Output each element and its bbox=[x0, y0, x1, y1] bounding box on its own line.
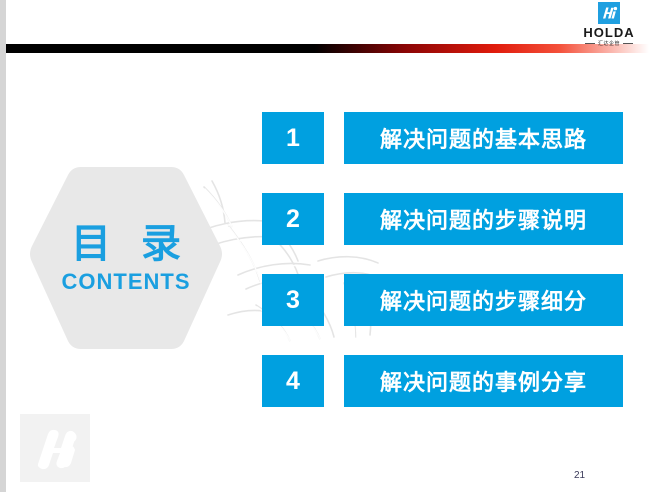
header-gradient-bar bbox=[6, 44, 649, 53]
logo-wordmark: HOLDA bbox=[569, 26, 649, 39]
contents-title-cn: 目 录 bbox=[63, 221, 189, 267]
left-edge-strip bbox=[0, 0, 6, 492]
toc-row-gap bbox=[324, 112, 344, 164]
holda-monogram-icon bbox=[598, 2, 620, 24]
toc-row-number: 2 bbox=[262, 193, 324, 245]
logo-subtitle: 汇达企管 bbox=[598, 40, 620, 47]
contents-hexagon-text: 目 录 CONTENTS bbox=[28, 163, 224, 353]
logo-rule-right bbox=[623, 43, 633, 44]
toc-row[interactable]: 1 解决问题的基本思路 bbox=[262, 112, 623, 164]
toc-row[interactable]: 2 解决问题的步骤说明 bbox=[262, 193, 623, 245]
toc-row-gap bbox=[324, 355, 344, 407]
toc-row-number: 1 bbox=[262, 112, 324, 164]
toc-row-gap bbox=[324, 274, 344, 326]
page-number: 21 bbox=[574, 470, 585, 481]
toc-row-label[interactable]: 解决问题的步骤细分 bbox=[344, 274, 623, 326]
contents-title-en: CONTENTS bbox=[62, 269, 191, 295]
toc-row[interactable]: 4 解决问题的事例分享 bbox=[262, 355, 623, 407]
toc-row-number: 4 bbox=[262, 355, 324, 407]
toc-row-label[interactable]: 解决问题的基本思路 bbox=[344, 112, 623, 164]
toc-list: 1 解决问题的基本思路 2 解决问题的步骤说明 3 解决问题的步骤细分 4 解决… bbox=[262, 112, 623, 407]
hi-watermark-icon bbox=[20, 414, 90, 482]
toc-row-label[interactable]: 解决问题的事例分享 bbox=[344, 355, 623, 407]
toc-row[interactable]: 3 解决问题的步骤细分 bbox=[262, 274, 623, 326]
toc-row-gap bbox=[324, 193, 344, 245]
holda-logo: HOLDA 汇达企管 bbox=[569, 2, 649, 44]
toc-row-number: 3 bbox=[262, 274, 324, 326]
toc-row-label[interactable]: 解决问题的步骤说明 bbox=[344, 193, 623, 245]
logo-subtitle-row: 汇达企管 bbox=[569, 40, 649, 47]
logo-rule-left bbox=[585, 43, 595, 44]
slide-canvas: HOLDA 汇达企管 bbox=[0, 0, 659, 492]
